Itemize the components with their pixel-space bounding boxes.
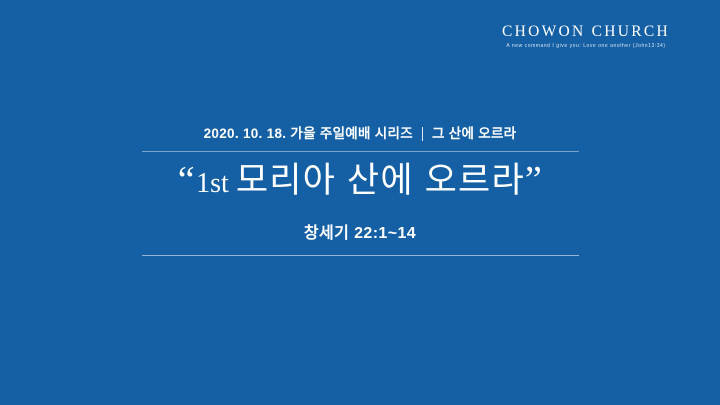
series-separator-bar <box>422 127 423 141</box>
page-title: “ 1st 모리아 산에 오르라 ” <box>178 152 543 206</box>
title-block: 2020. 10. 18. 가을 주일예배 시리즈 그 산에 오르라 “ 1st… <box>0 126 720 256</box>
church-tagline: A new command I give you: Love one anoth… <box>486 44 686 50</box>
scripture-reference: 창세기 22:1~14 <box>304 206 416 255</box>
church-wordmark: CHOWON CHURCH <box>486 24 686 40</box>
title-korean-text: 모리아 산에 오르라 <box>231 162 525 200</box>
quote-open: “ <box>178 161 195 199</box>
divider-bottom <box>142 255 579 256</box>
quote-close: ” <box>525 161 542 199</box>
series-name: 그 산에 오르라 <box>432 126 516 142</box>
church-logo: CHOWON CHURCH A new command I give you: … <box>486 24 686 50</box>
series-date: 2020. 10. 18. 가을 주일예배 시리즈 <box>204 126 413 142</box>
title-ordinal: 1st <box>195 169 231 199</box>
sermon-title-slide: CHOWON CHURCH A new command I give you: … <box>0 0 720 405</box>
series-line: 2020. 10. 18. 가을 주일예배 시리즈 그 산에 오르라 <box>204 126 517 151</box>
